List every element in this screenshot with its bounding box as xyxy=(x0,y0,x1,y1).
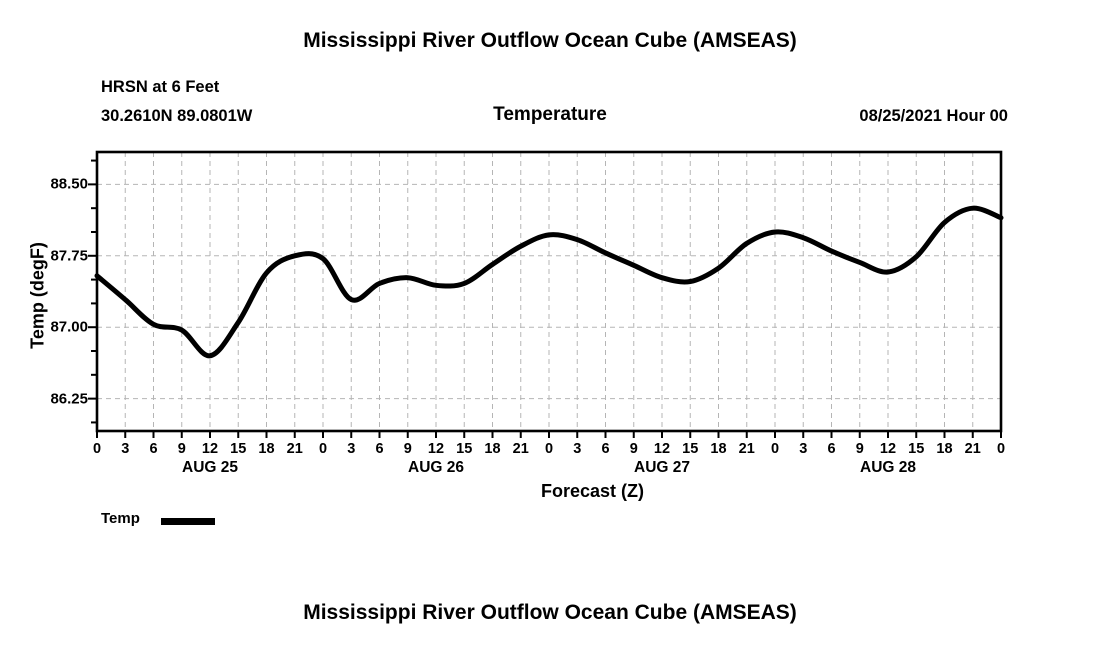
temperature-line-chart xyxy=(0,0,1100,650)
page-title-bottom: Mississippi River Outflow Ocean Cube (AM… xyxy=(0,601,1100,625)
legend-swatch-temp xyxy=(161,518,215,525)
legend-label-temp: Temp xyxy=(101,510,140,527)
